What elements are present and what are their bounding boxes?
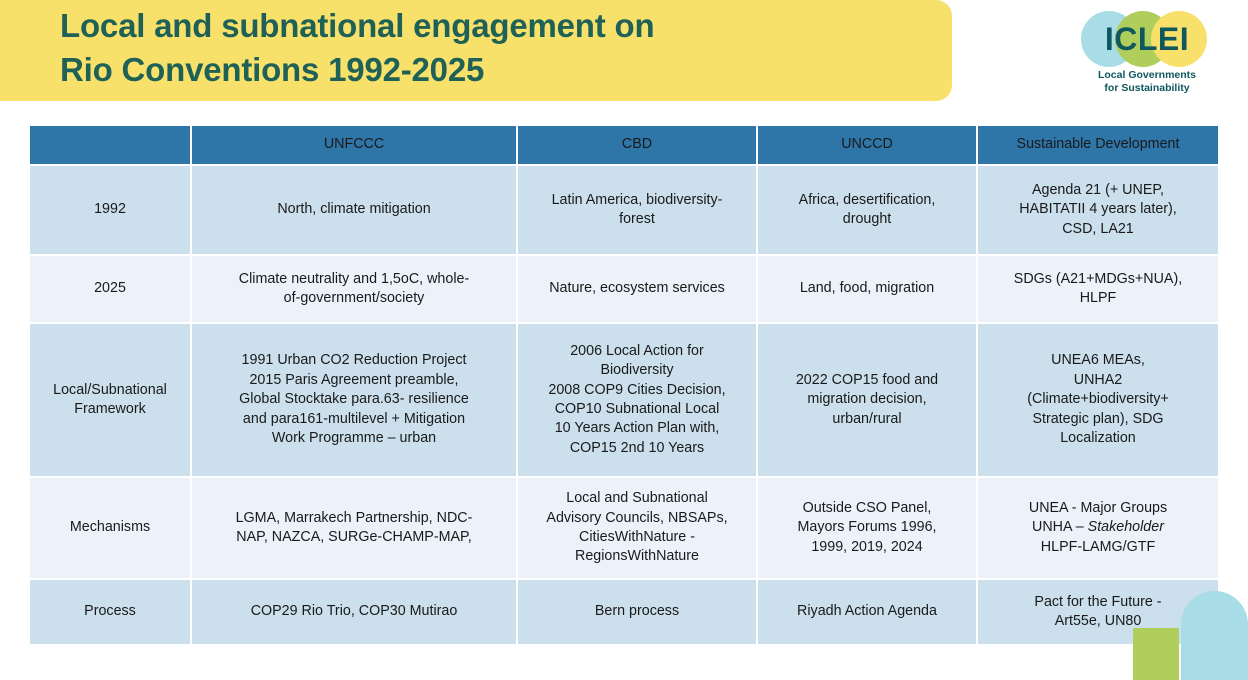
iclei-logo: ICLEI Local Governments for Sustainabili… (1073, 9, 1221, 102)
row-label-process: Process (30, 580, 190, 644)
title-banner: Local and subnational engagement on Rio … (0, 0, 952, 101)
table-row: 1992 North, climate mitigation Latin Ame… (30, 166, 1218, 254)
decoration-green-square (1133, 628, 1179, 680)
cell-2025-unfccc: Climate neutrality and 1,5oC, whole- of-… (192, 256, 516, 322)
column-header-cbd: CBD (518, 126, 756, 164)
cell-framework-unccd: 2022 COP15 food and migration decision, … (758, 324, 976, 476)
cell-mechanisms-sd: UNEA - Major GroupsUNHA – StakeholderHLP… (978, 478, 1218, 578)
column-header-sustainable-development: Sustainable Development (978, 126, 1218, 164)
table-body: 1992 North, climate mitigation Latin Ame… (30, 166, 1218, 644)
logo-tagline: Local Governments for Sustainability (1073, 69, 1221, 96)
page-title: Local and subnational engagement on Rio … (60, 4, 920, 91)
cell-mechanisms-unccd: Outside CSO Panel, Mayors Forums 1996, 1… (758, 478, 976, 578)
slide-canvas: Local and subnational engagement on Rio … (0, 0, 1248, 680)
table-header-row: UNFCCC CBD UNCCD Sustainable Development (30, 126, 1218, 164)
row-label-1992: 1992 (30, 166, 190, 254)
column-header-unfccc: UNFCCC (192, 126, 516, 164)
cell-process-cbd: Bern process (518, 580, 756, 644)
cell-process-unccd: Riyadh Action Agenda (758, 580, 976, 644)
row-label-local-subnational-framework: Local/Subnational Framework (30, 324, 190, 476)
cell-2025-sd: SDGs (A21+MDGs+NUA), HLPF (978, 256, 1218, 322)
table-header: UNFCCC CBD UNCCD Sustainable Development (30, 126, 1218, 164)
cell-2025-unccd: Land, food, migration (758, 256, 976, 322)
cell-framework-cbd: 2006 Local Action for Biodiversity 2008 … (518, 324, 756, 476)
cell-1992-sd: Agenda 21 (+ UNEP, HABITATII 4 years lat… (978, 166, 1218, 254)
logo-wordmark: ICLEI (1073, 21, 1221, 58)
cell-mechanisms-unfccc: LGMA, Marrakech Partnership, NDC- NAP, N… (192, 478, 516, 578)
cell-mechanisms-cbd: Local and Subnational Advisory Councils,… (518, 478, 756, 578)
table-row: Process COP29 Rio Trio, COP30 Mutirao Be… (30, 580, 1218, 644)
table-row: Mechanisms LGMA, Marrakech Partnership, … (30, 478, 1218, 578)
cell-mechanisms-sd-line2-emphasis: Stakeholder (1088, 519, 1164, 535)
row-label-mechanisms: Mechanisms (30, 478, 190, 578)
conventions-matrix-table: UNFCCC CBD UNCCD Sustainable Development… (28, 124, 1220, 646)
row-label-2025: 2025 (30, 256, 190, 322)
cell-2025-cbd: Nature, ecosystem services (518, 256, 756, 322)
cell-1992-cbd: Latin America, biodiversity- forest (518, 166, 756, 254)
cell-framework-sd: UNEA6 MEAs, UNHA2 (Climate+biodiversity+… (978, 324, 1218, 476)
cell-mechanisms-sd-line3: HLPF-LAMG/GTF (1041, 539, 1155, 555)
cell-1992-unfccc: North, climate mitigation (192, 166, 516, 254)
cell-process-unfccc: COP29 Rio Trio, COP30 Mutirao (192, 580, 516, 644)
cell-mechanisms-sd-line2-prefix: UNHA – (1032, 519, 1088, 535)
column-header-unccd: UNCCD (758, 126, 976, 164)
table-row: Local/Subnational Framework 1991 Urban C… (30, 324, 1218, 476)
cell-mechanisms-sd-line1: UNEA - Major Groups (1029, 500, 1167, 516)
column-header-corner (30, 126, 190, 164)
table-row: 2025 Climate neutrality and 1,5oC, whole… (30, 256, 1218, 322)
decoration-blue-arch (1181, 591, 1248, 680)
cell-framework-unfccc: 1991 Urban CO2 Reduction Project 2015 Pa… (192, 324, 516, 476)
cell-1992-unccd: Africa, desertification, drought (758, 166, 976, 254)
